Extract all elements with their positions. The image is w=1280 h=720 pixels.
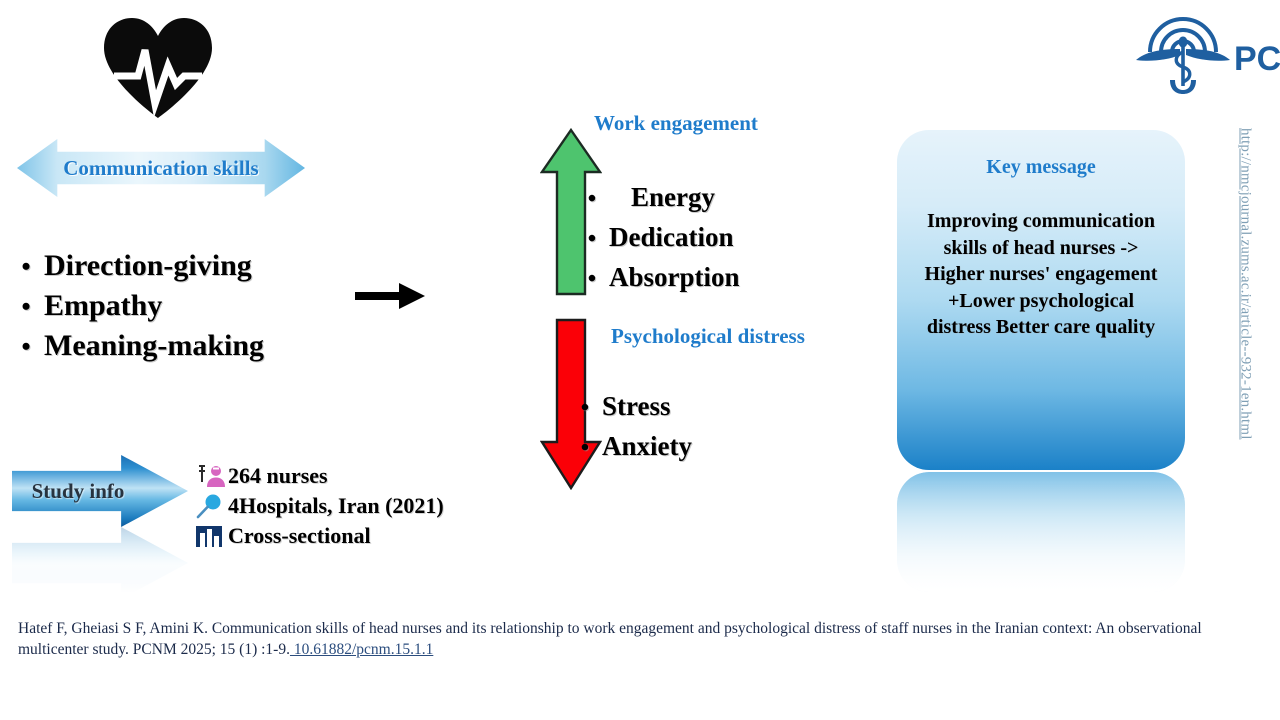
list-item: • Stress [568,387,692,427]
study-info-arrow: Study info [12,455,188,527]
pcnm-logo: PCNM [1128,8,1280,96]
psychological-distress-title: Psychological distress [611,324,805,349]
key-message-title: Key message [897,156,1185,179]
list-item-label: Anxiety [602,427,692,465]
right-arrow-icon [355,280,425,312]
bar-chart-icon [194,523,228,549]
key-message-box: Key message Improving communication skil… [897,130,1185,470]
bullet-glyph: • [575,220,609,258]
caduceus-logo-icon: PCNM [1128,8,1280,96]
list-item: 4Hospitals, Iran (2021) [194,491,444,521]
bullet-glyph: • [575,180,609,218]
heartbeat-icon [98,14,218,120]
study-info-facts: 264 nurses 4Hospitals, Iran (2021) Cr [194,461,444,551]
list-item: • Meaning-making [8,326,338,366]
bullet-glyph: • [8,327,44,366]
work-engagement-title: Work engagement [594,111,758,136]
list-item: • Dedication [575,218,740,258]
fact-text: 4Hospitals, Iran (2021) [228,491,444,521]
list-item-label: Meaning-making [44,326,264,365]
location-pin-icon [194,493,228,519]
study-info-arrow-reflection [12,527,188,593]
list-item: • Direction-giving [8,246,338,286]
work-engagement-list: • Energy • Dedication • Absorption [575,178,740,298]
communication-skills-banner: Communication skills [17,139,305,197]
list-item-label: Stress [602,387,671,425]
list-item: • Empathy [8,286,338,326]
list-item: Cross-sectional [194,521,444,551]
key-message-mirror [897,472,1185,592]
key-message-box-reflection [897,472,1185,592]
nurse-icon [194,463,228,489]
fact-text: 264 nurses [228,461,328,491]
psychological-distress-list: • Stress • Anxiety [568,387,692,467]
journal-url-vertical[interactable]: http://nmcjournal.zums.ac.ir/article--93… [1232,128,1258,498]
list-item: 264 nurses [194,461,444,491]
bullet-glyph: • [568,389,602,427]
list-item: • Energy [575,178,740,218]
fact-text: Cross-sectional [228,521,371,551]
journal-url-text[interactable]: http://nmcjournal.zums.ac.ir/article--93… [1237,128,1254,440]
graphical-abstract-canvas: PCNM Communication skills • Direction-gi… [0,0,1280,720]
list-item-label: Energy [609,178,715,216]
communication-skills-label: Communication skills [17,139,305,197]
list-item: • Absorption [575,258,740,298]
list-item-label: Dedication [609,218,734,256]
right-arrow-shape-mirror [12,527,188,593]
list-item: • Anxiety [568,427,692,467]
citation-text: Hatef F, Gheiasi S F, Amini K. Communica… [18,620,1202,658]
communication-skills-list: • Direction-giving • Empathy • Meaning-m… [8,246,338,366]
list-item-label: Absorption [609,258,740,296]
bullet-glyph: • [568,429,602,467]
list-item-label: Direction-giving [44,246,252,285]
study-info-label: Study info [24,455,132,527]
bullet-glyph: • [575,260,609,298]
bullet-glyph: • [8,247,44,286]
pcnm-logo-text: PCNM [1234,40,1280,78]
key-message-body: Improving communication skills of head n… [915,208,1167,341]
list-item-label: Empathy [44,286,162,325]
bullet-glyph: • [8,287,44,326]
citation: Hatef F, Gheiasi S F, Amini K. Communica… [18,618,1233,660]
doi-link[interactable]: 10.61882/pcnm.15.1.1 [290,641,433,658]
